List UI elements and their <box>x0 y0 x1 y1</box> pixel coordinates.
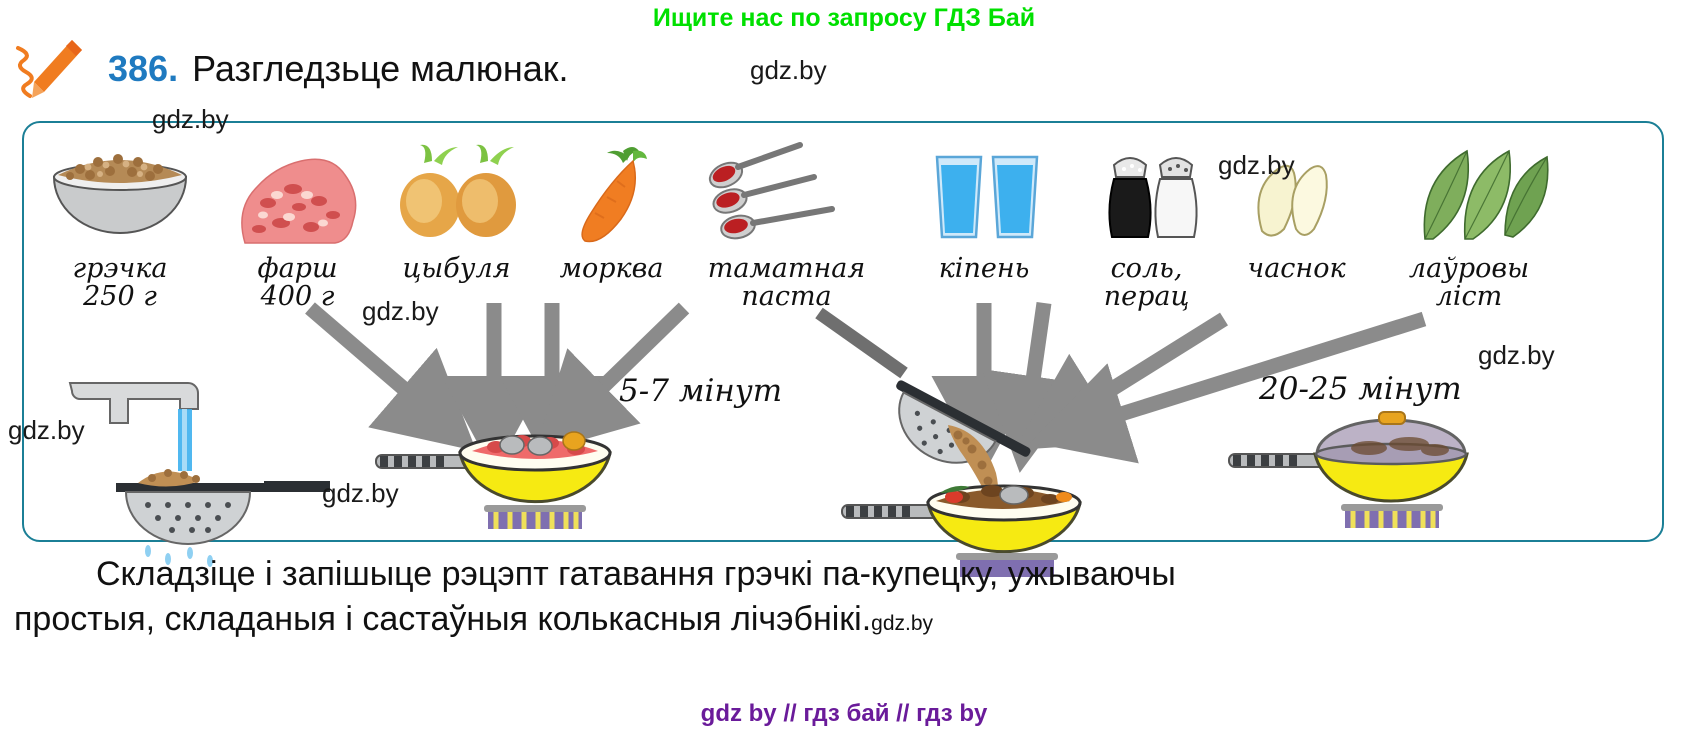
ingredient-label: фарш 400 г <box>210 255 385 312</box>
task-line-2: простыя, складаныя і састаўныя колькасны… <box>14 600 871 638</box>
exercise-header: 386. Разгледзьце малюнак. <box>108 48 569 90</box>
ingredient-label: грэчка 250 г <box>30 255 210 312</box>
ingredient-mince: фарш 400 г <box>210 141 385 312</box>
site-footer: gdz by // гдз бай // гдз by <box>0 700 1688 728</box>
task-text: Складзіце і запішыце рэцэпт гатавання гр… <box>14 552 1674 642</box>
ingredient-boiling-water: кіпень <box>904 141 1064 283</box>
spoons-with-paste-icon <box>679 141 894 251</box>
site-promo-banner: Ищите нас по запросу ГДЗ Бай <box>0 4 1688 33</box>
time-label-simmer: 20-25 мінут <box>1259 371 1462 407</box>
worksheet-page: Ищите нас по запросу ГДЗ Бай 386. Разгле… <box>0 0 1688 756</box>
pencil-icon <box>10 34 90 102</box>
watermark: gdz.by <box>322 478 399 509</box>
step-add-buckwheat <box>824 353 1124 543</box>
frying-pan-with-meat-icon <box>364 413 624 538</box>
watermark: gdz.by <box>750 55 827 86</box>
colander-pouring-buckwheat-icon <box>824 353 1124 543</box>
watermark: gdz.by <box>1218 150 1295 181</box>
time-label-fry: 5-7 мінут <box>619 373 782 409</box>
illustration-frame: грэчка 250 г <box>22 121 1664 542</box>
ingredient-label: часнок <box>1214 255 1379 283</box>
ingredient-label: таматная паста <box>679 255 894 312</box>
covered-pan-icon <box>1219 408 1489 538</box>
ingredient-carrot: морква <box>529 141 694 283</box>
exercise-number: 386. <box>108 48 178 90</box>
ingredient-salt-pepper: соль, перац <box>1064 141 1229 312</box>
watermark: gdz.by <box>1478 340 1555 371</box>
onions-icon <box>374 141 539 251</box>
step-simmer-covered <box>1219 408 1489 538</box>
watermark: gdz.by <box>152 104 229 135</box>
carrot-icon <box>529 141 694 251</box>
ingredient-buckwheat: грэчка 250 г <box>30 141 210 312</box>
salt-and-pepper-shakers-icon <box>1064 141 1229 251</box>
watermark: gdz.by <box>362 296 439 327</box>
ingredient-label: морква <box>529 255 694 283</box>
minced-meat-icon <box>210 141 385 251</box>
step-fry-mince <box>364 413 624 538</box>
ingredient-bay-leaf: лаўровы ліст <box>1379 141 1559 312</box>
ingredient-label: лаўровы ліст <box>1379 255 1559 312</box>
bowl-of-buckwheat-icon <box>30 141 210 251</box>
ingredient-tomato-paste: таматная паста <box>679 141 894 312</box>
watermark: gdz.by <box>8 415 85 446</box>
ingredient-onion: цыбуля <box>374 141 539 283</box>
ingredient-label: соль, перац <box>1064 255 1229 312</box>
task-line-1: Складзіце і запішыце рэцэпт гатавання гр… <box>96 555 1176 593</box>
inline-watermark: gdz.by <box>871 612 933 635</box>
glasses-of-water-icon <box>904 141 1064 251</box>
step-rinse-buckwheat <box>52 363 342 538</box>
ingredient-label: кіпень <box>904 255 1064 283</box>
bay-leaves-icon <box>1379 141 1559 251</box>
ingredient-label: цыбуля <box>374 255 539 283</box>
exercise-instruction: Разгледзьце малюнак. <box>192 48 568 90</box>
faucet-and-colander-icon <box>52 363 342 538</box>
